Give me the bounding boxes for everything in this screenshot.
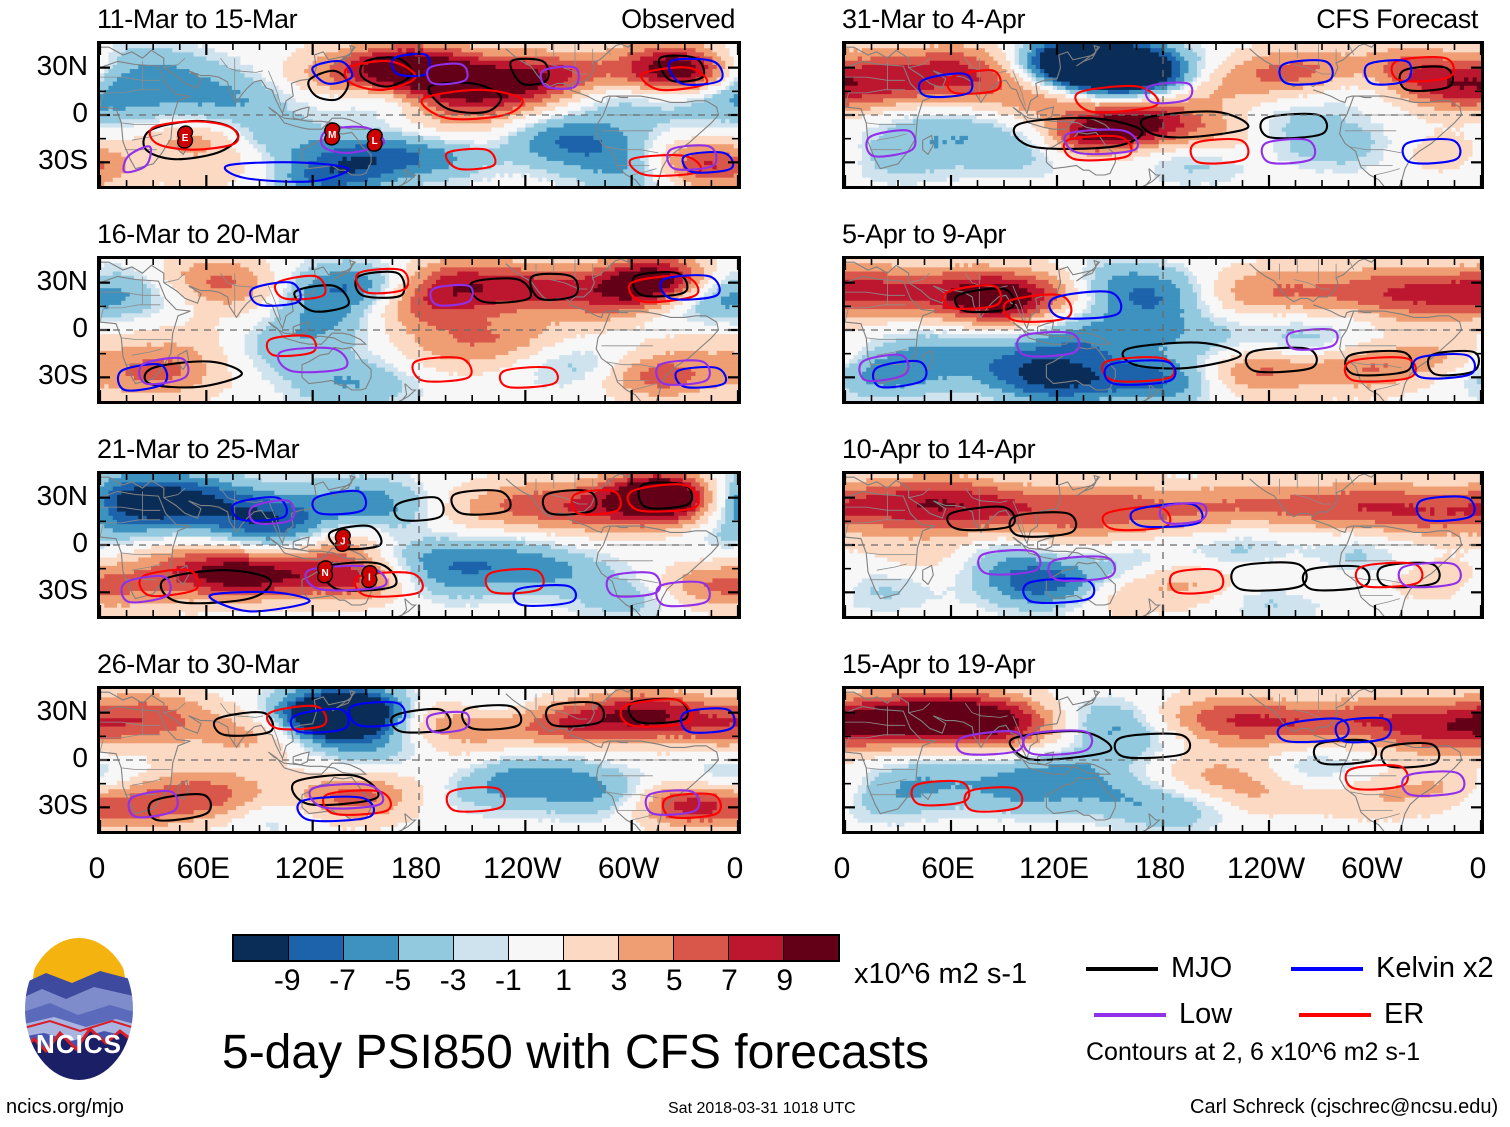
credit-label: Carl Schreck (cjschrec@ncsu.edu) — [1190, 1096, 1498, 1119]
map-frame-fcst-3 — [842, 471, 1484, 619]
colorbar-tick-7: 5 — [666, 964, 683, 998]
y-tick-label-obs-2-30N: 30N — [2, 267, 88, 295]
colorbar-swatch-2 — [344, 936, 399, 960]
colorbar-tick-5: 1 — [555, 964, 572, 998]
svg-text:M: M — [328, 130, 336, 141]
x-tick-label-right-6: 0 — [1470, 852, 1487, 886]
legend-line-er-icon — [1299, 1013, 1371, 1017]
x-tick-label-left-2: 120E — [275, 852, 345, 886]
column-header-right: CFS Forecast — [1316, 4, 1478, 35]
y-tick-label-obs-3-30S: 30S — [2, 576, 88, 604]
x-axis-right: 060E120E180120W60W0 — [842, 852, 1478, 892]
map-frame-fcst-4 — [842, 686, 1484, 834]
colorbar-tick-9: 9 — [776, 964, 793, 998]
panel-title-obs-2: 16-Mar to 20-Mar — [97, 219, 299, 250]
colorbar-swatch-1 — [289, 936, 344, 960]
y-tick-label-obs-1-30N: 30N — [2, 52, 88, 80]
map-frame-obs-3: JNI — [97, 471, 741, 619]
colorbar-tick-3: -3 — [440, 964, 467, 998]
ncics-logo-graphic — [20, 933, 138, 1085]
map-canvas-fcst-3 — [845, 474, 1481, 616]
column-header-left: Observed — [621, 4, 735, 35]
colorbar-swatch-7 — [619, 936, 674, 960]
x-tick-label-left-6: 0 — [727, 852, 744, 886]
panel-title-obs-3: 21-Mar to 25-Mar — [97, 434, 299, 465]
panel-title-fcst-1: 31-Mar to 4-Apr — [842, 4, 1025, 35]
panel-title-fcst-4: 15-Apr to 19-Apr — [842, 649, 1035, 680]
colorbar-tick-6: 3 — [611, 964, 628, 998]
colorbar-swatch-10 — [784, 936, 838, 960]
colorbar-tick-labels: -9-7-5-3-113579 — [232, 962, 840, 996]
y-tick-label-obs-1-30S: 30S — [2, 146, 88, 174]
map-canvas-fcst-2 — [845, 259, 1481, 401]
map-canvas-obs-3: JNI — [100, 474, 738, 616]
panel-title-obs-4: 26-Mar to 30-Mar — [97, 649, 299, 680]
colorbar-tick-8: 7 — [721, 964, 738, 998]
contour-note-label: Contours at 2, 6 x10^6 m2 s-1 — [1086, 1038, 1420, 1067]
map-canvas-obs-2 — [100, 259, 738, 401]
timestamp-label: Sat 2018-03-31 1018 UTC — [668, 1100, 856, 1118]
panel-title-fcst-2: 5-Apr to 9-Apr — [842, 219, 1006, 250]
y-tick-label-obs-3-0: 0 — [2, 529, 88, 557]
colorbar-tick-0: -9 — [274, 964, 301, 998]
map-canvas-fcst-4 — [845, 689, 1481, 831]
colorbar: -9-7-5-3-113579 — [232, 934, 840, 996]
main-title: 5-day PSI850 with CFS forecasts — [222, 1025, 929, 1080]
y-tick-label-obs-4-30S: 30S — [2, 791, 88, 819]
colorbar-tick-2: -5 — [384, 964, 411, 998]
contour-legend: MJOKelvin x2LowER — [1086, 952, 1496, 1042]
colorbar-swatch-9 — [729, 936, 784, 960]
svg-text:E: E — [182, 133, 189, 144]
map-canvas-obs-4 — [100, 689, 738, 831]
svg-text:I: I — [368, 573, 371, 584]
y-tick-label-obs-1-0: 0 — [2, 99, 88, 127]
colorbar-swatch-5 — [509, 936, 564, 960]
site-url-label: ncics.org/mjo — [6, 1096, 124, 1119]
map-canvas-fcst-1 — [845, 44, 1481, 186]
map-frame-obs-4 — [97, 686, 741, 834]
legend-label-er: ER — [1384, 998, 1424, 1031]
colorbar-swatch-3 — [399, 936, 454, 960]
legend-line-mjo-icon — [1086, 967, 1158, 971]
map-canvas-obs-1: EML — [100, 44, 738, 186]
colorbar-swatch-6 — [564, 936, 619, 960]
legend-line-low-icon — [1094, 1013, 1166, 1017]
x-tick-label-right-4: 120W — [1227, 852, 1305, 886]
map-frame-obs-2 — [97, 256, 741, 404]
colorbar-units-label: x10^6 m2 s-1 — [854, 958, 1027, 991]
x-tick-label-left-1: 60E — [177, 852, 230, 886]
x-tick-label-right-3: 180 — [1135, 852, 1185, 886]
map-frame-fcst-2 — [842, 256, 1484, 404]
x-tick-label-right-2: 120E — [1019, 852, 1089, 886]
legend-item-low: Low — [1094, 998, 1232, 1031]
panel-title-obs-1: 11-Mar to 15-Mar — [97, 4, 297, 35]
map-frame-fcst-1 — [842, 41, 1484, 189]
colorbar-swatch-0 — [234, 936, 289, 960]
colorbar-swatch-8 — [674, 936, 729, 960]
y-tick-label-obs-2-30S: 30S — [2, 361, 88, 389]
legend-label-kelvin: Kelvin x2 — [1376, 952, 1494, 985]
x-tick-label-right-5: 60W — [1341, 852, 1403, 886]
x-tick-label-left-4: 120W — [483, 852, 561, 886]
colorbar-tick-1: -7 — [329, 964, 356, 998]
colorbar-swatches — [232, 934, 840, 962]
svg-text:L: L — [372, 136, 378, 147]
y-tick-label-obs-2-0: 0 — [2, 314, 88, 342]
colorbar-tick-4: -1 — [495, 964, 522, 998]
x-tick-label-left-3: 180 — [391, 852, 441, 886]
y-tick-label-obs-3-30N: 30N — [2, 482, 88, 510]
ncics-logo: NCICS — [20, 933, 138, 1085]
x-axis-left: 060E120E180120W60W0 — [97, 852, 735, 892]
legend-item-mjo: MJO — [1086, 952, 1232, 985]
x-tick-label-right-1: 60E — [921, 852, 974, 886]
legend-item-kelvin: Kelvin x2 — [1291, 952, 1494, 985]
panel-title-fcst-3: 10-Apr to 14-Apr — [842, 434, 1035, 465]
legend-item-er: ER — [1299, 998, 1424, 1031]
map-frame-obs-1: EML — [97, 41, 741, 189]
legend-line-kelvin-icon — [1291, 967, 1363, 971]
y-tick-label-obs-4-30N: 30N — [2, 697, 88, 725]
legend-label-low: Low — [1179, 998, 1232, 1031]
colorbar-swatch-4 — [454, 936, 509, 960]
y-tick-label-obs-4-0: 0 — [2, 744, 88, 772]
svg-text:N: N — [321, 568, 328, 579]
x-tick-label-right-0: 0 — [834, 852, 851, 886]
legend-label-mjo: MJO — [1171, 952, 1232, 985]
x-tick-label-left-5: 60W — [598, 852, 660, 886]
x-tick-label-left-0: 0 — [89, 852, 106, 886]
